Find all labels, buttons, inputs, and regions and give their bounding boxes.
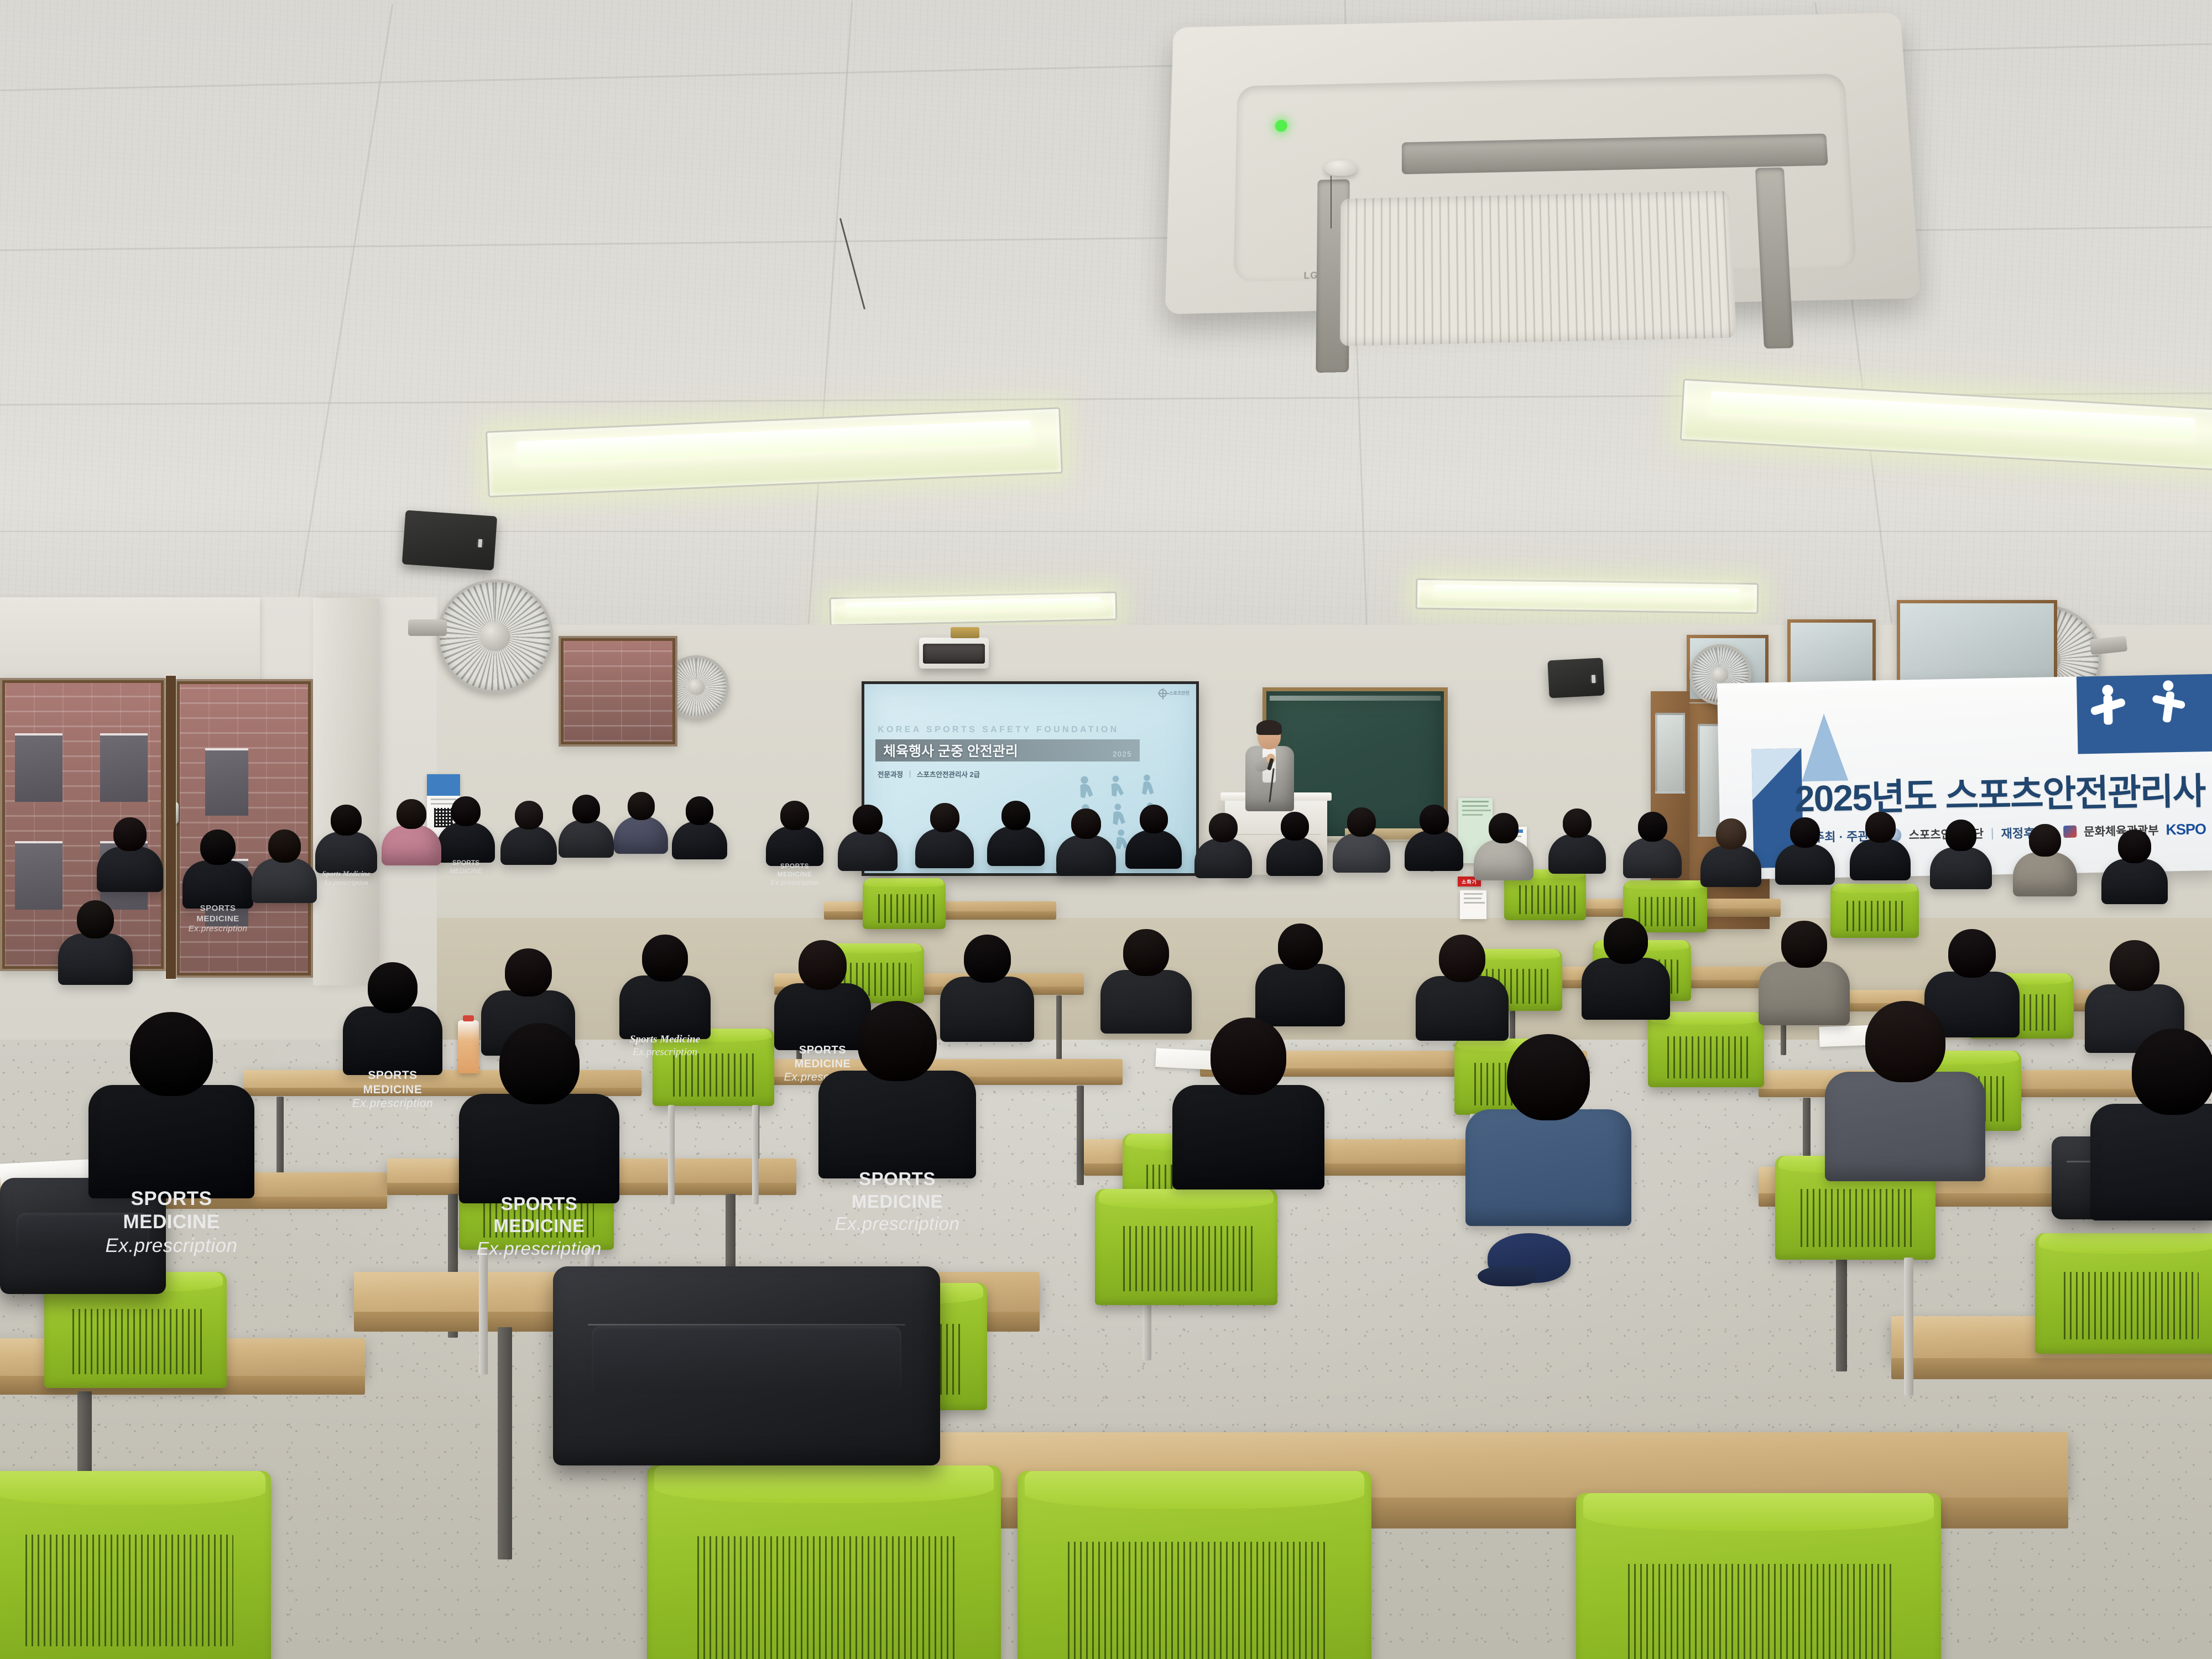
student-torso	[838, 831, 898, 871]
seated-student: Sports MedicineEx.prescription	[619, 935, 711, 1037]
student-torso	[1548, 834, 1606, 874]
foreground-chair-center[interactable]	[647, 1465, 1001, 1659]
desk-edge	[1891, 1358, 2212, 1379]
seated-student: SPORTS MEDICINEEx.prescription	[182, 830, 253, 907]
seated-student	[500, 801, 557, 864]
seated-student	[838, 805, 898, 870]
presenter-hair	[1256, 720, 1282, 735]
seated-student: SPORTS MEDICINEEx.prescription	[766, 801, 823, 865]
student-torso	[1405, 831, 1463, 871]
chair-top-lip	[1625, 880, 1705, 889]
student-torso	[1825, 1072, 1985, 1181]
backpack-foreground[interactable]	[553, 1266, 940, 1465]
seated-student	[252, 830, 317, 901]
chair-vent-slats	[1796, 1189, 1915, 1247]
classroom-chair[interactable]	[863, 878, 946, 929]
student-head	[1716, 818, 1746, 849]
student-torso	[1930, 847, 1992, 890]
student-head	[499, 1023, 580, 1104]
student-torso	[987, 826, 1045, 866]
ac-inner-panel	[1233, 74, 1856, 282]
student-head	[268, 830, 301, 863]
poster-text-line	[1464, 902, 1485, 904]
seated-student	[915, 803, 974, 867]
seated-student	[614, 792, 668, 853]
student-head	[1420, 805, 1449, 834]
seated-student	[1172, 1018, 1324, 1186]
ceiling-wire	[1331, 176, 1332, 228]
window-mullion	[166, 676, 176, 979]
poster-header-band	[427, 774, 460, 796]
fluorescent-tube	[845, 598, 1101, 612]
presenter-speaker	[1243, 722, 1296, 824]
foundation-mark-icon	[1159, 689, 1167, 697]
student-head	[780, 801, 809, 830]
window-roller-blind[interactable]	[0, 597, 260, 686]
chair-vent-slats	[1624, 1564, 1893, 1659]
wall-fan-left[interactable]	[437, 580, 553, 693]
student-head	[642, 935, 688, 982]
ceiling-air-conditioner[interactable]: LG	[1165, 13, 1921, 314]
student-torso	[1172, 1085, 1324, 1190]
seated-student	[1930, 820, 1992, 888]
student-torso: Sports MedicineEx.prescription	[619, 975, 711, 1039]
fan-hub	[480, 622, 510, 651]
speaker-logo	[477, 539, 484, 548]
fluorescent-tube	[516, 420, 1031, 465]
student-torso: SPORTS MEDICINEEx.prescription	[343, 1006, 442, 1075]
seated-student: SPORTS MEDICINEEx.prescription	[818, 1001, 976, 1175]
slide-logo-text: 스포츠안전	[1169, 690, 1190, 696]
student-torso: Sports MedicineEx.prescription	[315, 832, 377, 874]
seated-student	[1056, 808, 1116, 875]
student-head	[964, 935, 1011, 983]
ceiling-light-fixture[interactable]	[830, 592, 1118, 627]
seated-student	[1825, 1001, 1985, 1178]
chair-top-lip	[1099, 1189, 1274, 1209]
chair-leg	[668, 1105, 675, 1204]
seated-student	[1775, 817, 1835, 884]
left-upper-window[interactable]	[559, 636, 677, 747]
student-head	[572, 795, 600, 823]
student-torso	[1775, 844, 1835, 885]
poster-text-line	[1464, 898, 1481, 899]
student-torso	[382, 825, 441, 865]
student-head	[1790, 817, 1820, 848]
ceiling-light-fixture[interactable]	[1416, 578, 1759, 614]
student-head	[368, 962, 418, 1013]
student-torso	[1474, 839, 1533, 880]
seated-student	[1125, 805, 1182, 868]
classroom-chair-front[interactable]	[1095, 1189, 1277, 1305]
ac-intake-grille	[1340, 191, 1736, 346]
student-head	[1071, 808, 1101, 839]
seated-student	[2013, 824, 2077, 895]
chair-vent-slats	[21, 1535, 234, 1646]
seated-student	[1548, 808, 1606, 873]
chair-top-lip	[2039, 1233, 2212, 1254]
exterior-building-window	[15, 735, 62, 802]
student-head	[1278, 924, 1323, 970]
student-head	[853, 805, 883, 834]
backpack-zipper	[588, 1324, 905, 1326]
seated-student	[1266, 812, 1323, 875]
student-torso: SPORTS MEDICINEEx.prescription	[818, 1071, 976, 1178]
student-torso	[1582, 958, 1670, 1020]
chair-top-lip	[1583, 1493, 1934, 1531]
student-head	[331, 805, 362, 836]
foreground-chair-left[interactable]	[0, 1471, 271, 1659]
chair-vent-slats	[693, 1536, 955, 1659]
student-head	[628, 792, 655, 820]
classroom-chair[interactable]	[653, 1029, 774, 1106]
fluorescent-tube	[1434, 585, 1740, 599]
seated-student	[2090, 1029, 2212, 1217]
slide-title: 체육행사 군중 안전관리	[883, 740, 1018, 760]
slide-year: 2025	[1113, 750, 1132, 758]
student-torso	[1623, 838, 1682, 878]
cap-brim	[1478, 1266, 1536, 1286]
student-torso	[1333, 833, 1390, 873]
person-figure-icon	[2102, 685, 2113, 696]
foreground-chair-center-2[interactable]	[1018, 1471, 1371, 1659]
classroom-photo-scene: LG	[0, 0, 2212, 1659]
classroom-chair[interactable]	[1648, 1012, 1764, 1087]
speaker-logo	[1590, 675, 1597, 684]
fan-mount-bracket	[408, 619, 447, 636]
student-torso	[252, 858, 317, 903]
window-view	[564, 641, 672, 742]
chair-vent-slats	[68, 1309, 203, 1374]
banner-logo-block	[2077, 674, 2212, 754]
student-head	[2110, 940, 2159, 991]
student-head	[1347, 807, 1376, 837]
seated-student	[1100, 929, 1192, 1031]
student-torso	[1194, 838, 1252, 878]
chalk-residue-strip	[1270, 696, 1441, 701]
student-head	[2029, 824, 2061, 857]
exterior-building-window	[205, 750, 248, 816]
seated-student: Sports MedicineEx.prescription	[315, 805, 377, 872]
student-head	[397, 799, 426, 829]
seated-student: SPORTS MEDICINEEx.prescription	[459, 1023, 619, 1200]
wall-pillar	[313, 598, 379, 985]
bottle-cap	[463, 1015, 474, 1021]
student-head	[1638, 812, 1667, 842]
student-head	[1604, 918, 1648, 964]
ceiling-projector	[919, 638, 989, 669]
projector-lens-panel	[923, 644, 985, 664]
student-head	[1865, 812, 1896, 843]
seated-student	[1582, 918, 1670, 1018]
student-head	[1489, 813, 1519, 843]
student-head	[130, 1012, 213, 1096]
poster-text-line	[1462, 810, 1491, 811]
student-torso	[614, 816, 668, 854]
slide-title-bar: 체육행사 군중 안전관리 2025	[875, 739, 1140, 761]
student-head	[2118, 830, 2151, 863]
seated-student	[1194, 813, 1252, 877]
student-torso	[2013, 852, 2077, 896]
backpack-front-pocket	[592, 1326, 901, 1394]
ceiling: LG	[0, 0, 2212, 669]
chair-vent-slats	[1663, 1036, 1749, 1078]
slide-subtitle-divider	[910, 770, 910, 778]
backpack-front-pocket	[17, 1213, 149, 1252]
student-torso: SPORTS MEDICINEEx.prescription	[459, 1094, 619, 1203]
student-torso	[1700, 846, 1761, 888]
student-torso	[2101, 859, 2168, 904]
seated-student	[559, 795, 614, 857]
student-head	[1781, 921, 1827, 968]
slide-subtitle-row: 전문과정 스포츠안전관리사 2급	[878, 769, 980, 779]
seated-student: SPORTS MEDICINEEx.prescription	[88, 1012, 254, 1194]
student-torso	[672, 821, 727, 859]
student-head	[1439, 935, 1485, 982]
chair-vent-slats	[1119, 1226, 1254, 1291]
poster-text-line	[1462, 801, 1489, 802]
student-head	[1563, 808, 1592, 838]
student-torso: SPORTSMEDICINE	[437, 822, 495, 863]
seated-student	[1700, 818, 1761, 886]
student-torso	[1465, 1109, 1631, 1226]
student-head	[1211, 1018, 1287, 1095]
chair-vent-slats	[1515, 885, 1575, 914]
seated-student	[2101, 830, 2168, 902]
seated-student	[97, 817, 163, 890]
slide-organization-line: KOREA SPORTS SAFETY FOUNDATION	[878, 725, 1119, 735]
student-head	[1140, 805, 1168, 833]
window-view	[180, 684, 308, 973]
ac-brand-label: LG	[1304, 270, 1318, 281]
student-torso	[1255, 964, 1345, 1026]
student-torso	[1266, 837, 1323, 877]
seated-student	[1405, 805, 1463, 870]
student-head	[858, 1001, 937, 1081]
wall-speaker-right	[1547, 658, 1604, 698]
exterior-building-window	[100, 735, 148, 802]
seated-student	[1850, 812, 1911, 879]
student-torso	[915, 828, 974, 868]
student-torso	[500, 826, 557, 865]
student-head	[1123, 929, 1169, 976]
student-head	[686, 796, 713, 825]
chair-top-lip	[654, 1465, 994, 1503]
chair-top-lip	[1832, 884, 1917, 893]
chair-vent-slats	[874, 894, 935, 923]
chair-top-lip	[864, 878, 944, 887]
student-head	[1945, 820, 1976, 851]
desk-leg	[498, 1327, 512, 1559]
poster-text-line	[1462, 805, 1488, 807]
baseball-cap-on-desk[interactable]	[1488, 1233, 1571, 1283]
student-head	[2132, 1029, 2212, 1115]
student-head	[1948, 929, 1996, 978]
wall-speaker-left	[402, 510, 497, 570]
brick-building-exterior	[564, 641, 672, 742]
seated-student	[1255, 924, 1345, 1024]
seated-student	[1623, 812, 1682, 877]
slide-subtitle-level: 스포츠안전관리사 2급	[917, 769, 980, 779]
student-head	[1001, 801, 1030, 830]
student-head	[77, 900, 114, 938]
student-head	[1209, 813, 1238, 842]
student-torso	[1056, 835, 1116, 876]
student-torso	[1850, 839, 1911, 881]
left-window-near[interactable]	[175, 679, 313, 978]
person-figure-icon	[2163, 680, 2173, 691]
seated-student	[1465, 1034, 1631, 1222]
student-torso	[58, 933, 133, 985]
student-head	[113, 817, 147, 851]
seated-student	[1333, 807, 1390, 872]
seated-student: SPORTSMEDICINE	[437, 796, 495, 862]
student-head	[505, 948, 552, 997]
student-torso: SPORTS MEDICINEEx.prescription	[88, 1085, 254, 1198]
kspo-logo-text: KSPO	[2166, 821, 2206, 838]
student-head	[1507, 1034, 1590, 1120]
student-head	[515, 801, 543, 830]
student-head	[451, 796, 481, 826]
fan-hub	[688, 679, 705, 696]
student-head	[1865, 1001, 1945, 1082]
brick-building-exterior	[180, 684, 308, 973]
seated-student	[987, 801, 1045, 865]
student-head	[1281, 812, 1309, 841]
chair-vent-slats	[1842, 901, 1907, 931]
chair-top-lip	[0, 1471, 265, 1505]
student-torso	[1125, 830, 1182, 869]
student-head	[930, 803, 959, 832]
chair-vent-slats	[2059, 1272, 2199, 1339]
poster-text-line	[1464, 893, 1483, 895]
desk-leg	[1056, 995, 1062, 1062]
emergency-info-poster[interactable]	[1460, 890, 1486, 919]
chair-top-lip	[1025, 1471, 1364, 1509]
desk-leg	[1077, 1086, 1084, 1185]
smoke-detector-icon	[1324, 160, 1358, 176]
student-torso	[2090, 1104, 2212, 1220]
seated-student	[382, 799, 441, 864]
foreground-chair-right[interactable]	[1576, 1493, 1941, 1659]
slide-foundation-logo: 스포츠안전	[1159, 689, 1190, 697]
slide-subtitle-course: 전문과정	[878, 769, 903, 779]
chair-leg	[1904, 1258, 1913, 1396]
student-torso	[559, 820, 614, 858]
chair-leg	[752, 1105, 759, 1204]
door-glass-panel	[1655, 713, 1684, 794]
exterior-building-window	[15, 843, 62, 910]
seated-student	[58, 900, 133, 983]
seated-student	[1474, 813, 1533, 879]
seated-student: SPORTS MEDICINEEx.prescription	[343, 962, 442, 1073]
projector-bracket	[951, 627, 979, 638]
student-torso	[97, 847, 163, 892]
student-head	[200, 830, 236, 865]
student-head	[799, 940, 847, 990]
chair-vent-slats	[669, 1053, 759, 1097]
student-torso: SPORTS MEDICINEEx.prescription	[182, 860, 253, 909]
chair-vent-slats	[1063, 1542, 1326, 1659]
student-torso: SPORTS MEDICINEEx.prescription	[766, 826, 823, 866]
seated-student	[1416, 935, 1509, 1039]
chair-leg	[479, 1248, 488, 1375]
student-torso	[1416, 976, 1509, 1041]
seated-student	[672, 796, 727, 858]
classroom-chair-front[interactable]	[2035, 1233, 2212, 1354]
